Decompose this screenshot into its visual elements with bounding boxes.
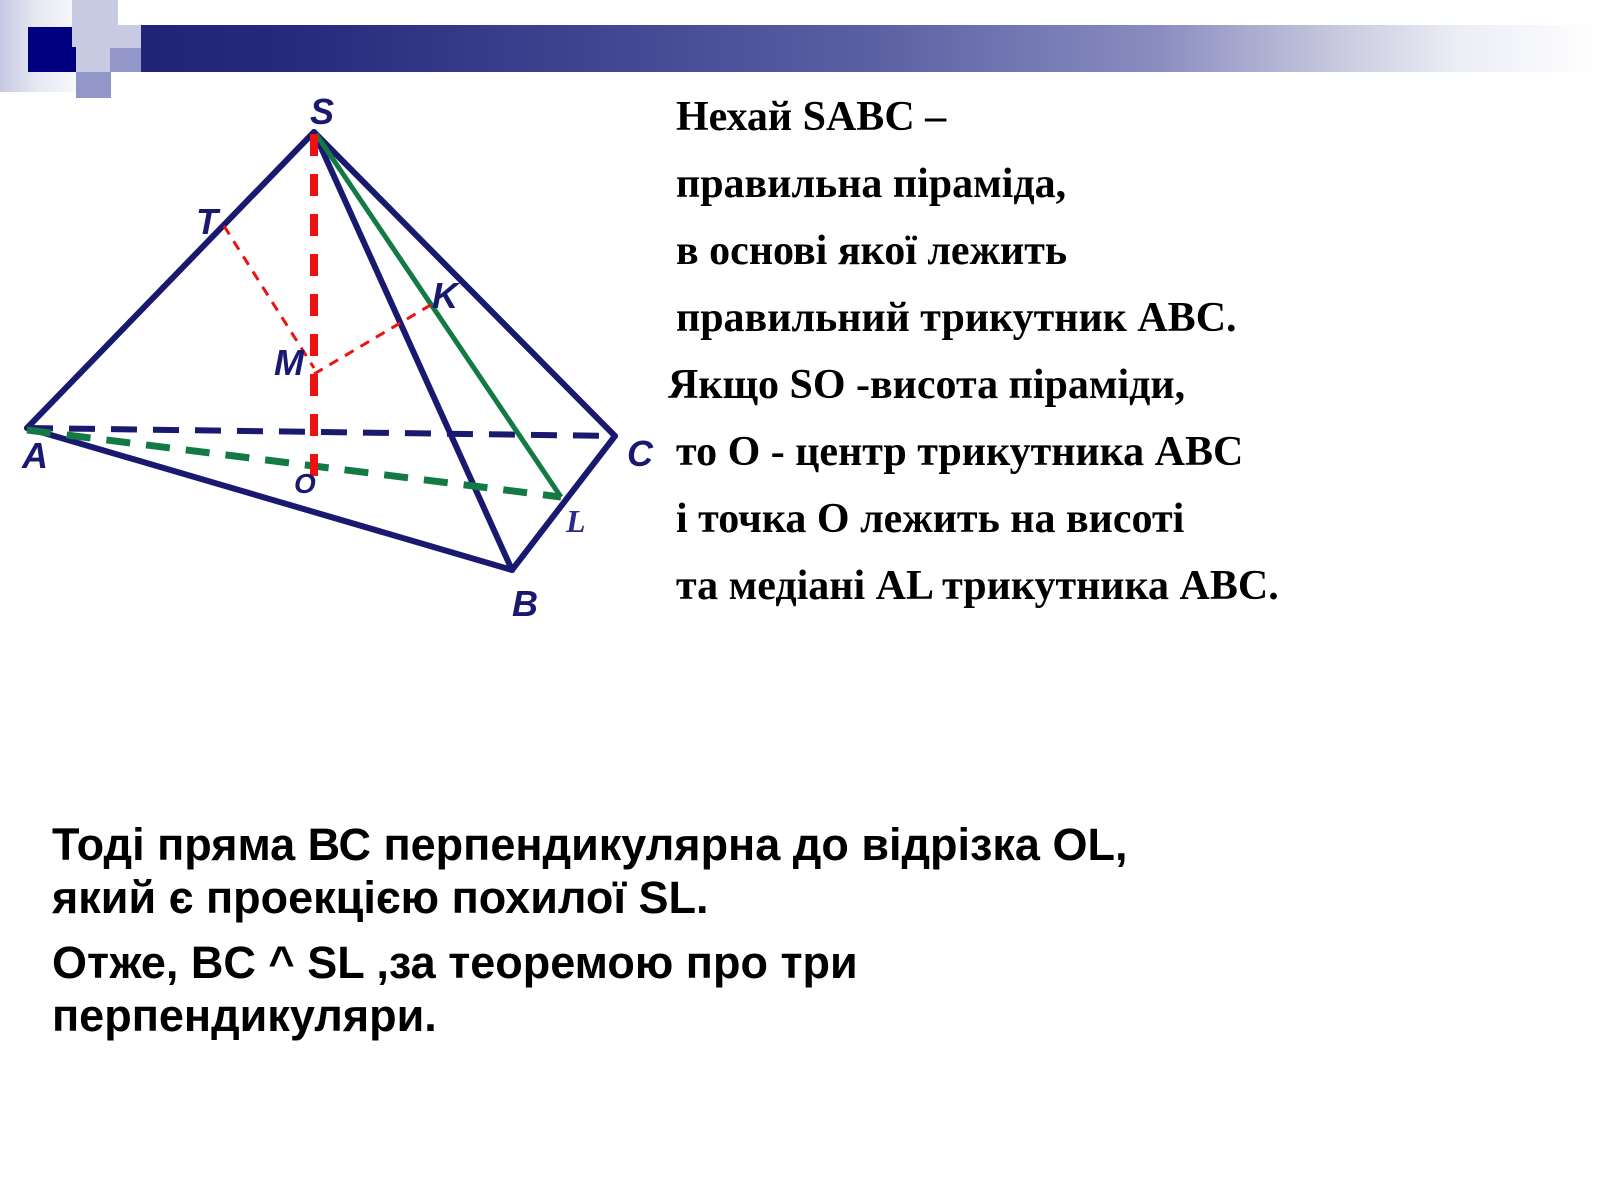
vertex-label-S: S bbox=[310, 94, 334, 130]
statement-line-6: то О - центр трикутника ABC bbox=[676, 431, 1588, 473]
vertex-label-C: C bbox=[627, 436, 653, 472]
vertex-label-B: B bbox=[512, 586, 538, 622]
vertex-label-A: A bbox=[22, 438, 48, 474]
conclusion-line-3: Отже, BC ^ SL ,за теоремою про три bbox=[52, 936, 1552, 989]
vertex-label-K: K bbox=[432, 278, 458, 314]
conclusion-line-1: Тоді пряма ВС перпендикулярна до відрізк… bbox=[52, 818, 1552, 871]
conclusion-spacer bbox=[52, 924, 1552, 936]
conclusion-line-4: перпендикуляри. bbox=[52, 989, 1552, 1042]
header-square-light-5 bbox=[96, 0, 118, 25]
statement-text-block: Нехай SABC – правильна піраміда, в основ… bbox=[676, 96, 1588, 632]
statement-line-5: Якщо SO -висота піраміди, bbox=[668, 364, 1588, 406]
edge-AB bbox=[27, 428, 512, 570]
edge-SC bbox=[314, 132, 615, 436]
pyramid-svg bbox=[0, 90, 680, 660]
edge-SB bbox=[314, 132, 512, 570]
pyramid-diagram: S T K M A O C L B bbox=[0, 90, 680, 660]
edge-AC-hidden bbox=[27, 428, 615, 436]
pyramid-edges bbox=[27, 132, 615, 570]
statement-line-7: і точка О лежить на висоті bbox=[676, 498, 1588, 540]
vertex-label-T: T bbox=[196, 204, 218, 240]
vertex-label-O: O bbox=[294, 470, 316, 498]
edge-SA bbox=[27, 132, 314, 428]
header-square-light-2 bbox=[72, 26, 110, 47]
header-square-dark-1 bbox=[28, 27, 76, 72]
edge-BC bbox=[512, 436, 615, 570]
statement-line-2: правильна піраміда, bbox=[676, 163, 1588, 205]
vertex-label-L: L bbox=[566, 505, 586, 537]
header-square-mid-2 bbox=[110, 48, 141, 72]
vertex-label-M: M bbox=[274, 345, 304, 381]
statement-line-1: Нехай SABC – bbox=[676, 96, 1588, 138]
conclusion-text-block: Тоді пряма ВС перпендикулярна до відрізк… bbox=[52, 818, 1552, 1042]
conclusion-line-2: який є проекцією похилої SL. bbox=[52, 871, 1552, 924]
statement-line-4: правильний трикутник ABC. bbox=[676, 297, 1588, 339]
header-square-light-4 bbox=[110, 25, 141, 48]
statement-line-3: в основі якої лежить bbox=[676, 230, 1588, 272]
statement-line-8: та медіані AL трикутника ABC. bbox=[676, 565, 1588, 607]
header-gradient-bar bbox=[110, 25, 1600, 72]
